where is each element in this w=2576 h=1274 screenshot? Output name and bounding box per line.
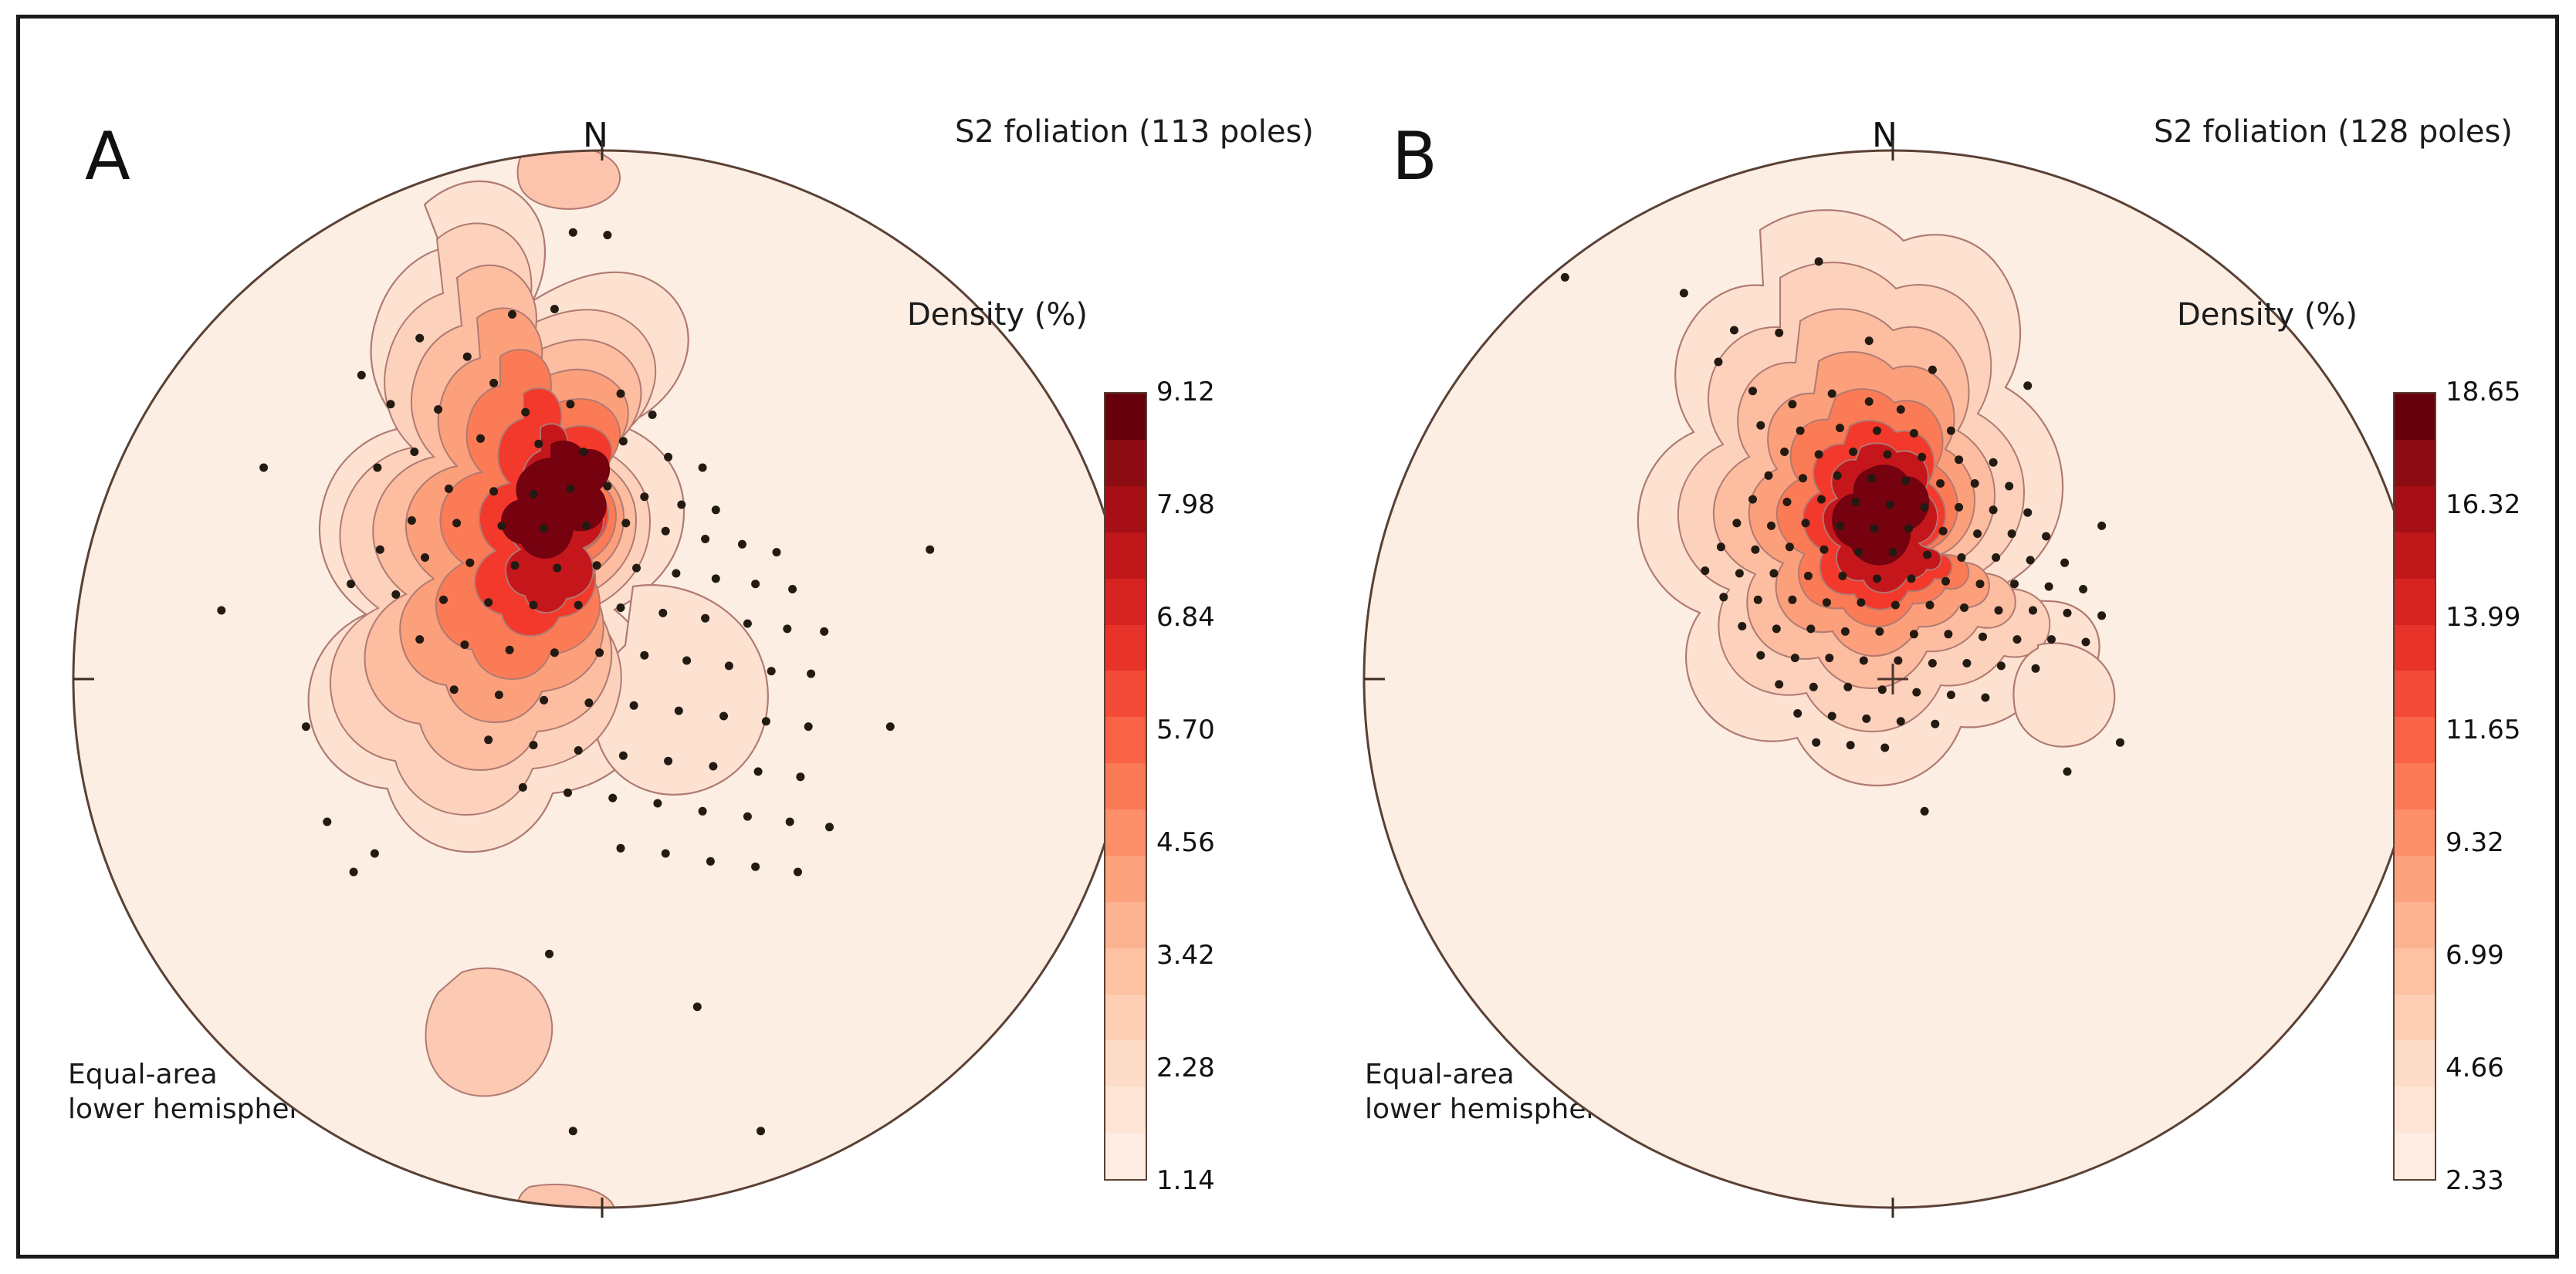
colorbar-segment: [2395, 671, 2435, 717]
pole-point: [1809, 683, 1818, 691]
pole-point: [751, 863, 760, 871]
pole-point: [1992, 553, 2000, 562]
pole-point: [408, 516, 416, 525]
pole-point: [767, 667, 776, 675]
pole-point: [619, 752, 628, 760]
pole-point: [376, 546, 384, 554]
pole-point: [648, 411, 657, 419]
pole-point: [2097, 522, 2106, 530]
pole-point: [699, 464, 707, 472]
colorbar-tick-label: 11.65: [2446, 715, 2520, 745]
pole-point: [1780, 448, 1789, 456]
pole-point: [574, 746, 583, 755]
pole-point: [1997, 661, 2006, 670]
pole-point: [2029, 607, 2037, 615]
pole-point: [1783, 498, 1792, 506]
pole-point: [1880, 744, 1889, 752]
pole-point: [373, 464, 381, 472]
pole-point: [2097, 611, 2106, 620]
pole-point: [550, 648, 559, 657]
colorbar-segment: [1105, 902, 1146, 948]
pole-point: [439, 596, 448, 604]
pole-point: [1754, 596, 1762, 604]
colorbar-segment: [2395, 440, 2435, 486]
pole-point: [1862, 715, 1870, 723]
pole-point: [2010, 580, 2019, 588]
pole-point: [1769, 569, 1778, 578]
pole-point: [1772, 624, 1781, 633]
pole-point: [2082, 638, 2090, 647]
pole-point: [445, 485, 453, 493]
pole-point: [302, 722, 310, 731]
colorbar-segment: [2395, 809, 2435, 856]
panel-b-colorbar: 18.6516.3213.9911.659.326.994.662.33: [2393, 392, 2576, 1181]
colorbar-segment: [1105, 1086, 1146, 1133]
panel-a-colorbar-title: Density (%): [907, 297, 1088, 333]
colorbar-tick-label: 2.33: [2446, 1165, 2504, 1196]
pole-point: [2032, 664, 2040, 673]
colorbar-segment: [2395, 532, 2435, 579]
pole-point: [709, 762, 717, 771]
pole-point: [1815, 450, 1823, 458]
pole-point: [640, 651, 648, 660]
colorbar-tick-label: 9.12: [1156, 377, 1215, 407]
pole-point: [1788, 400, 1796, 408]
pole-point: [1817, 495, 1826, 504]
pole-point: [706, 857, 715, 866]
pole-point: [1928, 659, 1937, 667]
pole-point: [1561, 273, 1569, 282]
pole-point: [540, 524, 548, 532]
colorbar-segment: [2395, 1133, 2435, 1179]
pole-point: [1765, 471, 1773, 480]
pole-point: [1894, 657, 1902, 665]
colorbar-segment: [1105, 671, 1146, 717]
pole-point: [725, 661, 733, 670]
pole-point: [788, 585, 797, 593]
pole-point: [754, 767, 763, 776]
colorbar-tick-label: 6.99: [2446, 940, 2504, 971]
pole-point: [603, 231, 611, 239]
pole-point: [926, 546, 934, 554]
pole-point: [630, 701, 638, 710]
pole-point: [1865, 397, 1874, 406]
colorbar-segment: [2395, 902, 2435, 948]
pole-point: [415, 334, 424, 343]
colorbar-segment: [2395, 995, 2435, 1041]
pole-point: [2060, 559, 2069, 567]
pole-point: [1897, 405, 1905, 414]
pole-point: [1796, 427, 1805, 435]
pole-point: [495, 691, 503, 699]
pole-point: [569, 1127, 577, 1135]
pole-point: [1756, 421, 1765, 430]
pole-point: [1904, 524, 1913, 532]
panel-b-colorbar-title: Density (%): [2177, 297, 2358, 333]
pole-point: [617, 603, 625, 612]
pole-point: [1849, 448, 1857, 456]
pole-point: [1836, 424, 1844, 432]
pole-point: [489, 487, 498, 495]
pole-point: [1923, 551, 1931, 559]
pole-point: [2047, 635, 2056, 644]
pole-point: [773, 548, 781, 556]
pole-point: [511, 561, 520, 569]
pole-point: [1886, 501, 1894, 509]
colorbar-segment: [2395, 763, 2435, 809]
colorbar-segment: [1105, 625, 1146, 671]
pole-point: [1825, 654, 1833, 662]
pole-point: [1748, 495, 1757, 504]
pole-point: [1912, 688, 1921, 697]
pole-point: [1891, 601, 1900, 610]
pole-point: [450, 685, 459, 694]
pole-point: [391, 590, 400, 599]
pole-point: [574, 601, 583, 610]
colorbar-segment: [1105, 995, 1146, 1041]
pole-point: [259, 464, 268, 472]
pole-point: [530, 741, 538, 749]
pole-point: [1921, 503, 1929, 512]
pole-point: [1955, 503, 1963, 512]
pole-point: [1730, 326, 1738, 334]
pole-point: [1870, 524, 1879, 532]
pole-point: [820, 627, 828, 636]
pole-point: [1815, 257, 1823, 265]
pole-point: [664, 453, 672, 461]
pole-point: [347, 580, 355, 588]
pole-point: [2063, 767, 2072, 776]
pole-point: [476, 434, 485, 443]
pole-point: [1960, 603, 1968, 612]
pole-point: [489, 379, 498, 387]
pole-point: [608, 794, 617, 803]
pole-point: [794, 868, 802, 877]
pole-point: [662, 850, 670, 858]
pole-point: [1732, 519, 1741, 527]
pole-point: [1947, 691, 1955, 699]
pole-point: [540, 696, 548, 705]
pole-point: [1865, 336, 1874, 345]
pole-point: [1921, 807, 1929, 816]
pole-point: [603, 482, 611, 491]
colorbar-segment: [1105, 809, 1146, 856]
pole-point: [1786, 542, 1794, 551]
pole-point: [595, 648, 604, 657]
pole-point: [1873, 574, 1881, 583]
pole-point: [415, 635, 424, 644]
pole-point: [1955, 455, 1963, 464]
pole-point: [1981, 694, 1989, 702]
pole-point: [786, 818, 794, 826]
pole-point: [545, 950, 553, 958]
pole-point: [807, 670, 815, 678]
pole-point: [452, 519, 461, 527]
pole-point: [1812, 738, 1820, 747]
pole-point: [1735, 569, 1744, 578]
pole-point: [566, 400, 574, 408]
pole-point: [1971, 479, 1979, 488]
pole-point: [2026, 556, 2035, 564]
stereonet-figure: A S2 foliation (113 poles) N Equal-area …: [0, 0, 2576, 1274]
pole-point: [751, 580, 760, 588]
panel-a: A S2 foliation (113 poles) N Equal-area …: [0, 0, 1297, 1274]
colorbar-segment: [1105, 1133, 1146, 1179]
pole-point: [1775, 680, 1783, 688]
colorbar-segment: [1105, 440, 1146, 486]
pole-point: [550, 305, 559, 313]
pole-point: [1847, 741, 1855, 749]
colorbar-tick-label: 2.28: [1156, 1053, 1215, 1083]
pole-point: [1751, 546, 1759, 554]
pole-point: [1973, 529, 1982, 538]
pole-point: [1931, 720, 1939, 728]
pole-point: [1910, 630, 1918, 638]
pole-point: [1833, 471, 1842, 480]
pole-point: [410, 448, 418, 456]
pole-point: [1875, 627, 1884, 636]
pole-point: [1738, 622, 1746, 630]
pole-point: [1788, 596, 1796, 604]
pole-point: [1918, 453, 1926, 461]
pole-point: [580, 448, 588, 456]
colorbar-tick-label: 7.98: [1156, 489, 1215, 520]
pole-point: [2079, 585, 2087, 593]
pole-point: [701, 535, 709, 543]
pole-point: [460, 640, 469, 649]
pole-point: [1857, 598, 1865, 607]
pole-point: [1878, 685, 1887, 694]
pole-point: [2008, 529, 2016, 538]
panel-a-contour-blob-south: [517, 1184, 615, 1241]
pole-point: [757, 1127, 765, 1135]
pole-point: [743, 813, 752, 821]
colorbar-tick-label: 13.99: [2446, 602, 2520, 633]
pole-point: [662, 527, 670, 536]
colorbar-segment: [1105, 486, 1146, 532]
pole-point: [534, 440, 543, 448]
pole-point: [506, 646, 514, 654]
pole-point: [2063, 609, 2072, 617]
pole-point: [1838, 572, 1847, 580]
pole-point: [712, 505, 720, 514]
panel-b: B S2 foliation (128 poles) N Equal-area …: [1297, 0, 2576, 1274]
colorbar-segment: [1105, 763, 1146, 809]
pole-point: [350, 868, 358, 877]
pole-point: [1820, 546, 1829, 554]
pole-point: [484, 598, 493, 607]
pole-point: [640, 492, 648, 501]
panel-b-colorbar-gradient: [2393, 392, 2436, 1181]
pole-point: [1715, 358, 1723, 367]
pole-point: [701, 614, 709, 623]
pole-point: [1828, 390, 1836, 398]
panel-b-stereonet-plot: [1297, 46, 2362, 1250]
pole-point: [569, 228, 577, 237]
pole-point: [1944, 630, 1952, 638]
pole-point: [1802, 519, 1810, 527]
colorbar-segment: [2395, 625, 2435, 671]
colorbar-tick-label: 4.66: [2446, 1053, 2504, 1083]
colorbar-tick-label: 5.70: [1156, 715, 1215, 745]
pole-point: [1860, 657, 1868, 665]
pole-point: [1962, 659, 1971, 667]
pole-point: [357, 371, 366, 380]
pole-point: [621, 519, 630, 527]
pole-point: [699, 807, 707, 816]
pole-point: [465, 559, 474, 567]
pole-point: [1841, 627, 1850, 636]
pole-point: [1756, 651, 1765, 660]
pole-point: [719, 712, 728, 721]
pole-point: [1791, 654, 1799, 662]
pole-point: [804, 722, 813, 731]
pole-point: [1907, 574, 1916, 583]
colorbar-segment: [1105, 532, 1146, 579]
pole-point: [1989, 505, 1998, 514]
colorbar-segment: [1105, 579, 1146, 625]
pole-point: [1902, 477, 1911, 485]
pole-point: [1976, 580, 1985, 588]
pole-point: [1767, 522, 1775, 530]
pole-point: [593, 561, 601, 569]
colorbar-segment: [2395, 1040, 2435, 1086]
pole-point: [1979, 633, 1987, 641]
pole-point: [497, 522, 506, 530]
pole-point: [1910, 429, 1918, 438]
pole-point: [2005, 482, 2013, 491]
pole-point: [463, 353, 472, 361]
pole-point: [584, 698, 593, 707]
pole-point: [508, 310, 516, 319]
pole-point: [582, 522, 591, 530]
colorbar-segment: [1105, 717, 1146, 763]
pole-point: [1889, 548, 1897, 556]
pole-point: [617, 390, 625, 398]
pole-point: [619, 437, 628, 445]
pole-point: [1928, 366, 1937, 374]
pole-point: [371, 850, 379, 858]
pole-point: [1867, 474, 1876, 482]
pole-point: [1852, 498, 1860, 506]
pole-point: [783, 624, 791, 633]
pole-point: [1989, 458, 1998, 467]
pole-point: [2042, 532, 2050, 541]
pole-point: [1926, 601, 1935, 610]
colorbar-segment: [2395, 948, 2435, 995]
pole-point: [2023, 509, 2032, 517]
pole-point: [886, 722, 895, 731]
pole-point: [1701, 566, 1709, 575]
colorbar-segment: [2395, 486, 2435, 532]
pole-point: [712, 574, 720, 583]
pole-point: [825, 823, 834, 831]
colorbar-segment: [1105, 1040, 1146, 1086]
pole-point: [632, 564, 641, 573]
pole-point: [2023, 381, 2032, 390]
pole-point: [796, 772, 804, 781]
pole-point: [566, 485, 574, 493]
pole-point: [1828, 712, 1836, 721]
colorbar-segment: [1105, 394, 1146, 440]
pole-point: [323, 818, 331, 826]
colorbar-tick-label: 9.32: [2446, 827, 2504, 858]
colorbar-segment: [2395, 717, 2435, 763]
pole-point: [1947, 427, 1955, 435]
colorbar-tick-label: 4.56: [1156, 827, 1215, 858]
pole-point: [553, 564, 561, 573]
colorbar-tick-label: 16.32: [2446, 489, 2520, 520]
pole-point: [1806, 624, 1815, 633]
pole-point: [421, 553, 429, 562]
colorbar-segment: [2395, 1086, 2435, 1133]
pole-point: [675, 707, 683, 715]
pole-point: [617, 844, 625, 853]
pole-point: [1873, 427, 1881, 435]
pole-point: [1941, 577, 1950, 586]
pole-point: [1823, 598, 1831, 607]
colorbar-tick-label: 3.42: [1156, 940, 1215, 971]
pole-point: [693, 1002, 702, 1011]
pole-point: [564, 789, 572, 797]
pole-point: [1836, 522, 1844, 530]
pole-point: [519, 783, 527, 792]
colorbar-tick-label: 18.65: [2446, 377, 2520, 407]
pole-point: [530, 601, 538, 610]
pole-point: [738, 540, 746, 549]
pole-point: [664, 757, 672, 765]
pole-point: [1719, 593, 1728, 601]
pole-point: [1804, 572, 1813, 580]
pole-point: [1854, 548, 1863, 556]
pole-point: [677, 501, 685, 509]
pole-point: [2045, 583, 2053, 591]
pole-point: [2116, 738, 2124, 747]
pole-point: [1939, 527, 1948, 536]
pole-point: [1843, 683, 1852, 691]
colorbar-segment: [1105, 856, 1146, 902]
pole-point: [1775, 329, 1783, 337]
colorbar-tick-label: 6.84: [1156, 602, 1215, 633]
pole-point: [1717, 542, 1725, 551]
pole-point: [434, 405, 442, 414]
pole-point: [1680, 289, 1688, 297]
colorbar-tick-label: 1.14: [1156, 1165, 1215, 1196]
pole-point: [743, 620, 752, 628]
pole-point: [2013, 635, 2022, 644]
pole-point: [387, 400, 395, 408]
pole-point: [530, 490, 538, 498]
pole-point: [521, 408, 530, 417]
pole-point: [653, 799, 662, 808]
panel-a-stereonet-plot: [0, 46, 1081, 1250]
pole-point: [217, 607, 225, 615]
pole-point: [1897, 717, 1905, 725]
colorbar-segment: [2395, 579, 2435, 625]
pole-point: [1936, 479, 1945, 488]
pole-point: [762, 717, 770, 725]
pole-point: [1995, 607, 2003, 615]
colorbar-segment: [2395, 856, 2435, 902]
panel-a-colorbar-gradient: [1104, 392, 1147, 1181]
pole-point: [658, 609, 667, 617]
pole-point: [1958, 553, 1966, 562]
pole-point: [1748, 387, 1757, 395]
pole-point: [1793, 709, 1802, 718]
pole-point: [682, 657, 691, 665]
colorbar-segment: [1105, 948, 1146, 995]
pole-point: [1799, 474, 1807, 482]
